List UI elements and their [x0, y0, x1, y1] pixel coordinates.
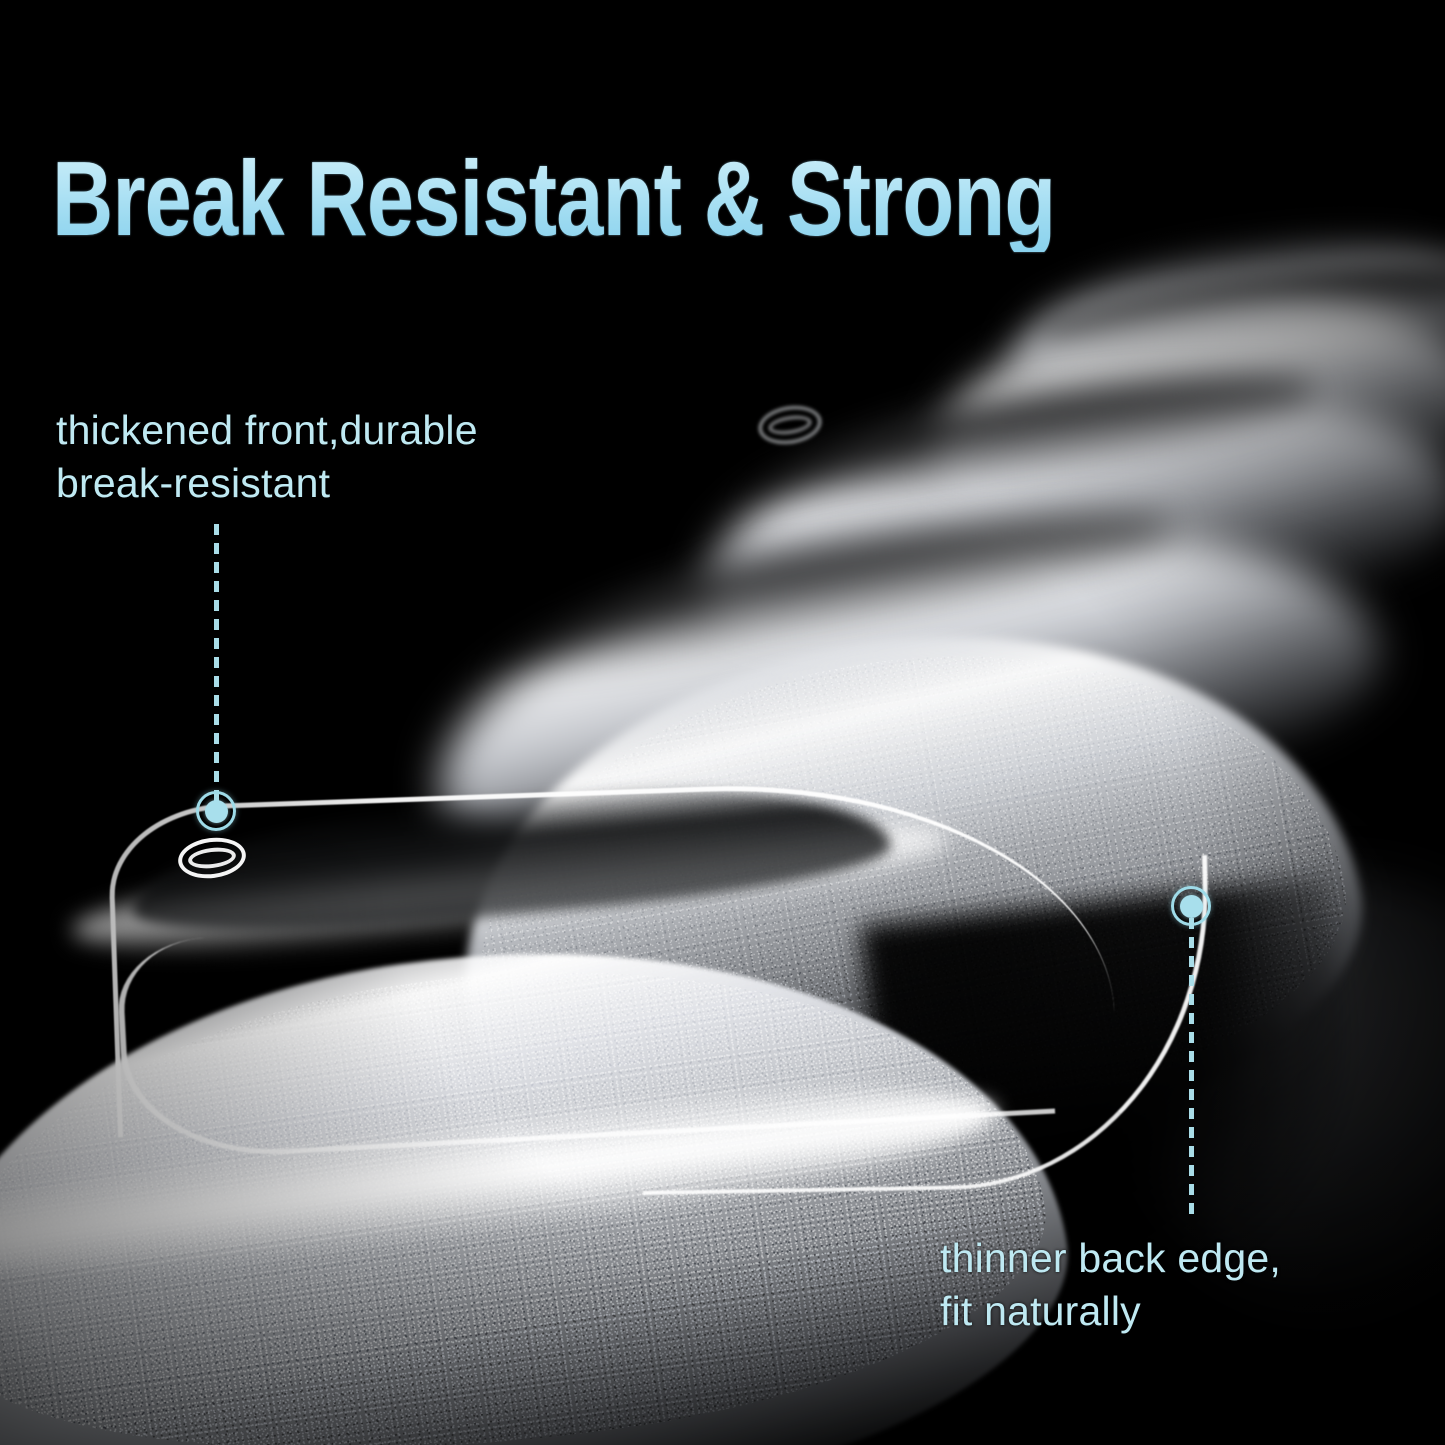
product-infographic: Break Resistant & Strong thickened front…: [0, 0, 1445, 1445]
leader-line-thinner-back-edge: [1189, 918, 1194, 1216]
callout-thickened-front-line2: break-resistant: [56, 457, 478, 510]
callout-thickened-front: thickened front,durable break-resistant: [56, 404, 478, 511]
marker-thickened-front[interactable]: [196, 791, 236, 831]
leader-line-thickened-front: [214, 524, 219, 806]
callout-thinner-back-edge-line2: fit naturally: [940, 1285, 1281, 1338]
annotation-overlay: Break Resistant & Strong thickened front…: [0, 0, 1445, 1445]
callout-thinner-back-edge-line1: thinner back edge,: [940, 1232, 1281, 1285]
page-title: Break Resistant & Strong: [52, 146, 1055, 252]
thickness-indicator-background-icon: [755, 401, 824, 449]
callout-thickened-front-line1: thickened front,durable: [56, 404, 478, 457]
callout-thinner-back-edge: thinner back edge, fit naturally: [940, 1232, 1281, 1339]
thickness-indicator-foreground-icon: [176, 834, 248, 882]
